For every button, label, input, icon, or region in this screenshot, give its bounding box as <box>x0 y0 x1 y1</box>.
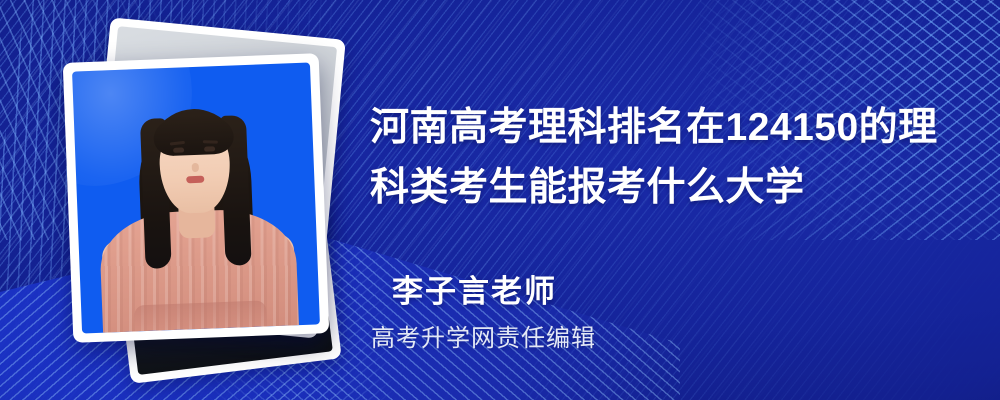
portrait-nose <box>191 163 198 172</box>
banner-text-block: 河南高考理科排名在124150的理科类考生能报考什么大学 李子言老师 高考升学网… <box>370 0 970 400</box>
author-photo-card <box>63 53 330 343</box>
author-name: 李子言老师 <box>392 266 557 311</box>
author-portrait-photo <box>72 63 320 334</box>
portrait-illustration <box>72 63 320 334</box>
portrait-eyebrow-right <box>203 140 218 143</box>
author-role: 高考升学网责任编辑 <box>371 318 596 353</box>
portrait-fringe <box>153 113 234 156</box>
portrait-lips <box>186 175 204 183</box>
portrait-dress-waist <box>134 300 267 331</box>
author-photo-stack <box>62 34 334 352</box>
portrait-eye-right <box>204 146 215 151</box>
portrait-eye-left <box>173 147 184 152</box>
page-title: 河南高考理科排名在124150的理科类考生能报考什么大学 <box>370 98 960 218</box>
article-header-banner: 河南高考理科排名在124150的理科类考生能报考什么大学 李子言老师 高考升学网… <box>0 0 1000 400</box>
